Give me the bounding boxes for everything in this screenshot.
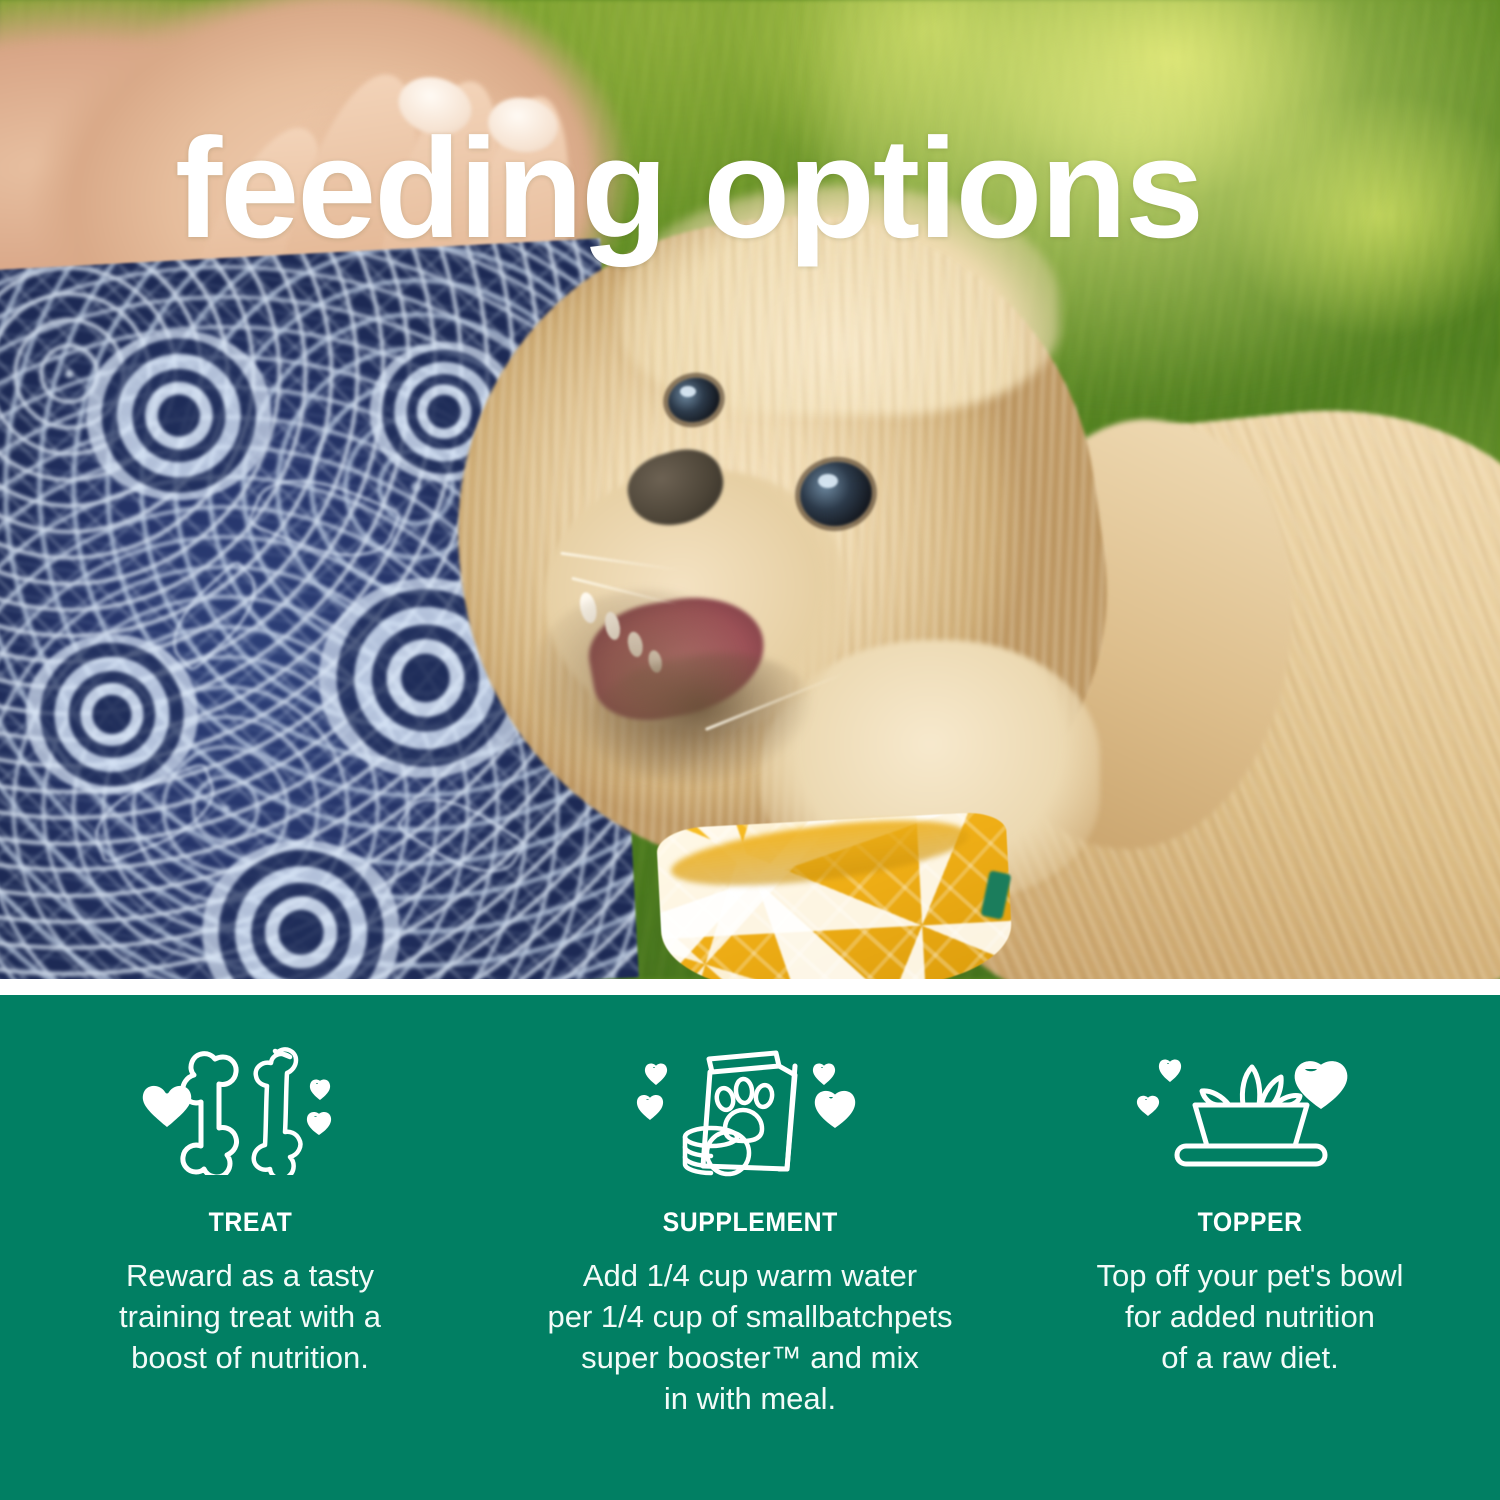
- feeding-option-description: Top off your pet's bowl for added nutrit…: [1097, 1256, 1404, 1379]
- feeding-option-heading: SUPPLEMENT: [662, 1207, 837, 1238]
- hero-photo: feeding options: [0, 0, 1500, 979]
- feeding-option-treat: TREAT Reward as a tasty training treat w…: [0, 995, 500, 1500]
- feeding-options-panel: TREAT Reward as a tasty training treat w…: [0, 995, 1500, 1500]
- pet-bowl-topper-icon: [1125, 1035, 1375, 1185]
- dog-bone-treat-icon: [135, 1035, 365, 1185]
- page-title: feeding options: [175, 118, 1202, 260]
- feeding-option-description: Add 1/4 cup warm water per 1/4 cup of sm…: [548, 1256, 953, 1420]
- feeding-option-description: Reward as a tasty training treat with a …: [119, 1256, 381, 1379]
- white-divider: [0, 979, 1500, 995]
- feeding-option-heading: TREAT: [208, 1207, 292, 1238]
- food-bag-supplement-icon: [625, 1035, 875, 1185]
- feeding-option-topper: TOPPER Top off your pet's bowl for added…: [1000, 995, 1500, 1500]
- feeding-option-heading: TOPPER: [1197, 1207, 1302, 1238]
- feeding-options-columns: TREAT Reward as a tasty training treat w…: [0, 995, 1500, 1500]
- feeding-option-supplement: SUPPLEMENT Add 1/4 cup warm water per 1/…: [500, 995, 1000, 1500]
- feeding-options-infographic: feeding options: [0, 0, 1500, 1500]
- eye-highlight: [680, 386, 696, 397]
- eye-highlight: [818, 474, 838, 488]
